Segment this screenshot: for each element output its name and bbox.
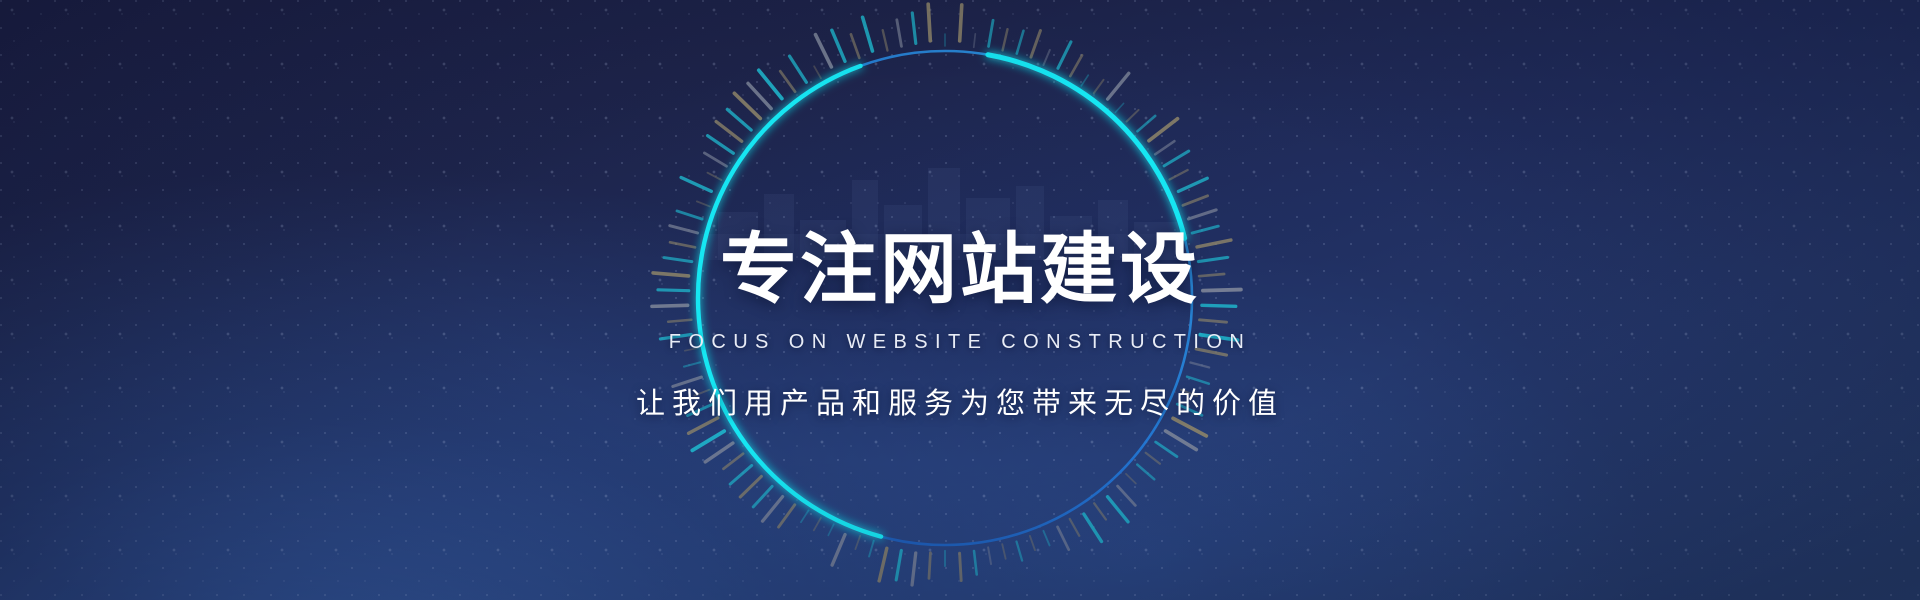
page-title: 专注网站建设	[720, 232, 1200, 309]
banner-content: 专注网站建设 FOCUS ON WEBSITE CONSTRUCTION 让我们…	[0, 0, 1920, 600]
tagline-chinese: 让我们用产品和服务为您带来无尽的价值	[636, 380, 1284, 422]
subtitle-english: FOCUS ON WEBSITE CONSTRUCTION	[669, 331, 1251, 354]
hero-banner: 专注网站建设 FOCUS ON WEBSITE CONSTRUCTION 让我们…	[0, 0, 1920, 600]
